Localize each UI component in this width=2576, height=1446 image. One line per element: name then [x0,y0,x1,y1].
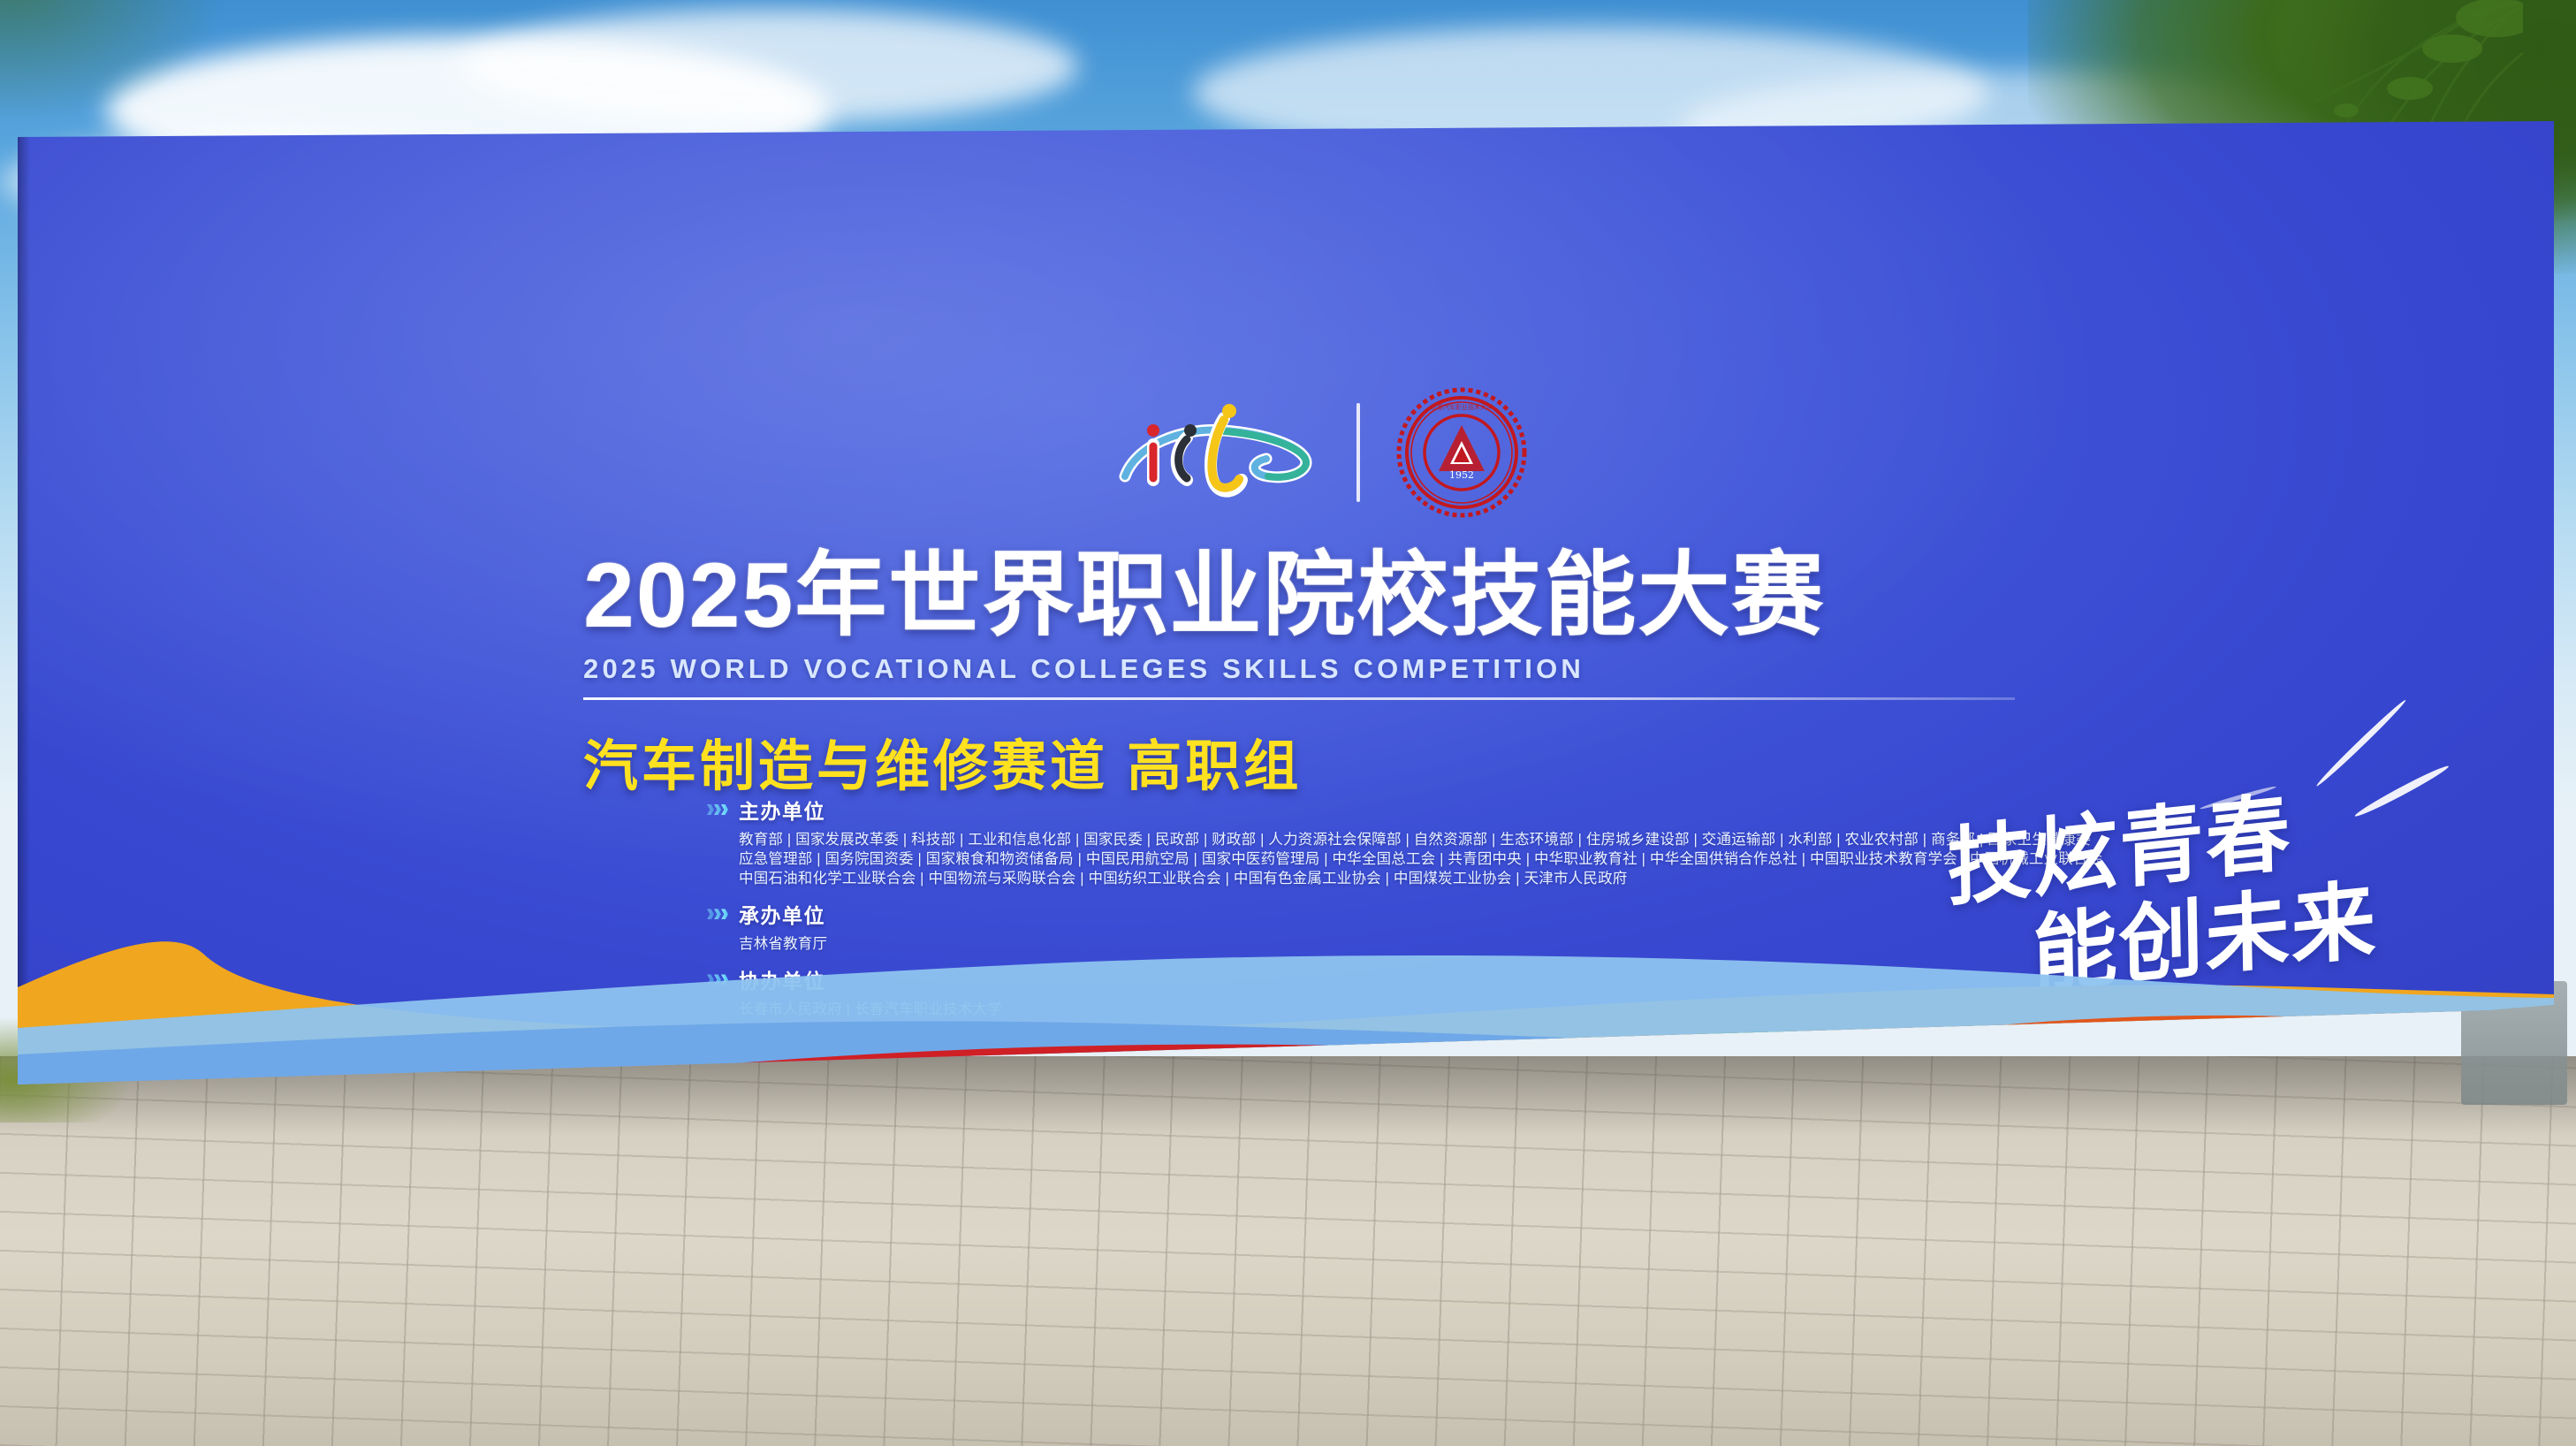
svg-text:长春汽车职业技术大学: 长春汽车职业技术大学 [1431,403,1493,411]
iict-competition-logo [1118,395,1321,510]
title-divider-rule [583,697,2015,700]
cloud [460,9,1078,124]
changchun-automobile-university-seal: 1952 长春汽车职业技术大学 [1395,386,1528,519]
screenshot-root: 1952 长春汽车职业技术大学 2025年世界职业院校技能大赛 2025 WOR… [0,0,2576,1446]
event-banner-board: 1952 长春汽车职业技术大学 2025年世界职业院校技能大赛 2025 WOR… [18,121,2554,1084]
page-subtitle-en: 2025 WORLD VOCATIONAL COLLEGES SKILLS CO… [583,653,2068,685]
title-block: 2025年世界职业院校技能大赛 2025 WORLD VOCATIONAL CO… [583,549,2068,801]
seal-year: 1952 [1449,469,1474,481]
organizer-label: 主办单位 [739,795,825,825]
logo-row: 1952 长春汽车职业技术大学 [1118,386,1533,519]
chevron-right-icon [707,803,730,817]
page-title: 2025年世界职业院校技能大赛 [583,549,2068,643]
track-title: 汽车制造与维修赛道 高职组 [583,721,2068,801]
organizer-heading: 主办单位 [707,795,1962,825]
logo-divider [1356,403,1360,502]
brush-stroke-decor [2353,763,2451,819]
organizer-line: 教育部 | 国家发展改革委 | 科技部 | 工业和信息化部 | 国家民委 | 民… [739,830,1962,849]
